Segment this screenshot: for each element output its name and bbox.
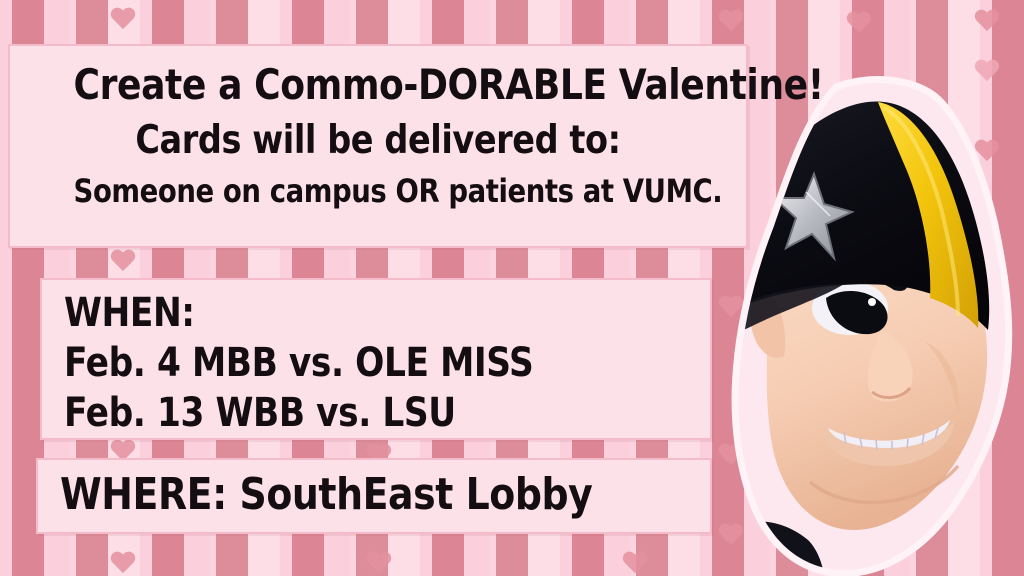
valentine-poster: Create a Commo-DORABLE Valentine! Cards … bbox=[0, 0, 1024, 576]
when-event-1: Feb. 4 MBB vs. OLE MISS bbox=[64, 338, 620, 388]
heart-icon bbox=[974, 10, 1000, 33]
when-panel: WHEN: Feb. 4 MBB vs. OLE MISS Feb. 13 WB… bbox=[40, 278, 712, 440]
mr-commodore-mascot bbox=[726, 62, 1024, 576]
poster-subhead: Cards will be delivered to: bbox=[74, 114, 683, 168]
heart-icon bbox=[846, 12, 872, 35]
intro-panel: Create a Commo-DORABLE Valentine! Cards … bbox=[8, 44, 748, 248]
when-event-2: Feb. 13 WBB vs. LSU bbox=[64, 388, 620, 438]
poster-detail: Someone on campus OR patients at VUMC. bbox=[74, 168, 683, 214]
mascot-photo bbox=[726, 62, 1024, 576]
heart-icon bbox=[110, 250, 136, 273]
heart-icon bbox=[110, 8, 136, 31]
where-text: WHERE: SouthEast Lobby bbox=[60, 464, 619, 526]
where-panel: WHERE: SouthEast Lobby bbox=[36, 458, 712, 534]
heart-icon bbox=[110, 552, 136, 575]
heart-icon bbox=[622, 552, 648, 575]
poster-headline: Create a Commo-DORABLE Valentine! bbox=[74, 56, 683, 114]
heart-icon bbox=[718, 10, 744, 33]
when-label: WHEN: bbox=[64, 288, 620, 338]
heart-icon bbox=[366, 552, 392, 575]
